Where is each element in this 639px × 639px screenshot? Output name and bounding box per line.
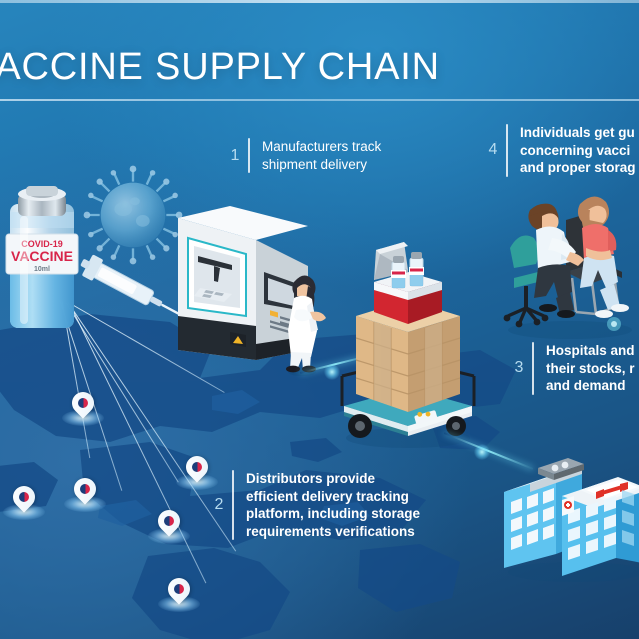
callout-text: Manufacturers track shipment delivery xyxy=(262,138,381,173)
infographic-canvas: VACCINE SUPPLY CHAIN xyxy=(0,0,639,639)
map-pin-icon[interactable] xyxy=(72,392,94,422)
callout-manufacturers: 1 Manufacturers track shipment delivery xyxy=(222,138,381,173)
map-pin-icon[interactable] xyxy=(158,510,180,540)
callout-rule xyxy=(506,124,508,177)
hospital-building-icon xyxy=(498,404,639,579)
beam-glow-dot xyxy=(474,444,490,460)
callout-text: Individuals get gu concerning vacci and … xyxy=(520,124,636,177)
vaccine-vial: COVID-19 VACCINE 10ml xyxy=(0,172,88,332)
callout-number: 1 xyxy=(222,147,248,165)
callout-number: 2 xyxy=(206,496,232,514)
vial-label-line3: 10ml xyxy=(34,266,50,273)
callout-rule xyxy=(248,138,250,173)
callout-distributors: 2 Distributors provide efficient deliver… xyxy=(206,470,420,540)
callout-individuals: 4 Individuals get gu concerning vacci an… xyxy=(480,124,636,177)
page-title: VACCINE SUPPLY CHAIN xyxy=(0,46,440,89)
callout-number: 3 xyxy=(506,359,532,377)
map-pin-icon[interactable] xyxy=(13,486,35,516)
scientist-figure xyxy=(276,268,328,376)
callout-text: Hospitals and their stocks, r and demand xyxy=(546,342,635,395)
callout-hospitals: 3 Hospitals and their stocks, r and dema… xyxy=(506,342,635,395)
map-pin-icon[interactable] xyxy=(168,578,190,608)
delivery-cart-icon xyxy=(330,256,486,448)
consultation-scene xyxy=(496,186,639,338)
title-divider-line xyxy=(0,99,639,101)
callout-text: Distributors provide efficient delivery … xyxy=(246,470,420,540)
top-edge-line xyxy=(0,0,639,3)
callout-number: 4 xyxy=(480,141,506,159)
callout-rule xyxy=(232,470,234,540)
callout-rule xyxy=(532,342,534,395)
map-pin-icon[interactable] xyxy=(74,478,96,508)
map-pin-icon[interactable] xyxy=(186,456,208,486)
